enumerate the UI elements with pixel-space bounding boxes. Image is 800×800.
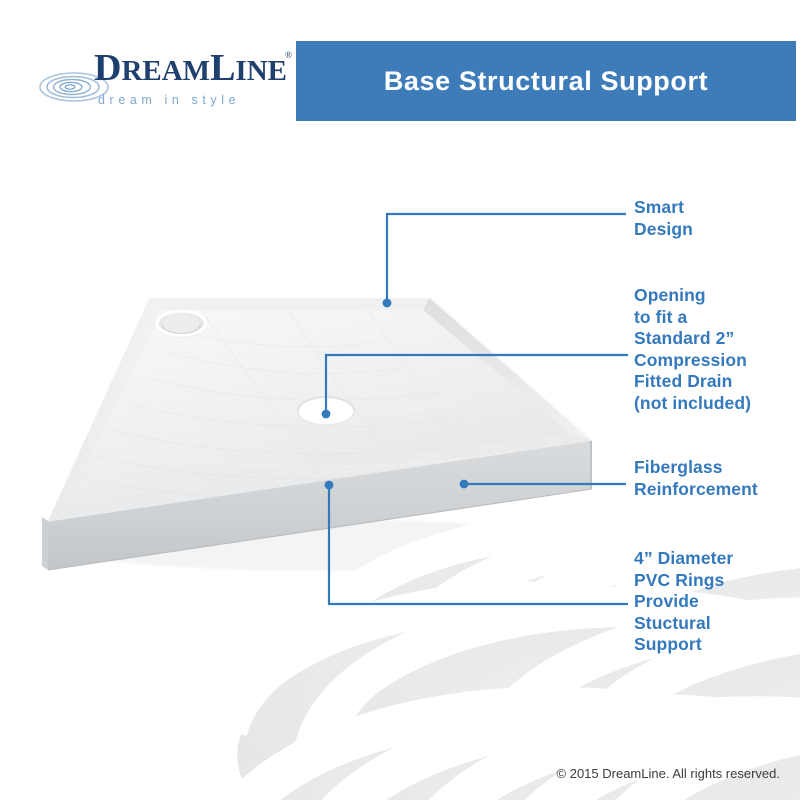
leader-dot-smart-design <box>383 299 392 308</box>
page-root: DREAMLINE ® dream in style Base Structur… <box>0 0 800 800</box>
registered-trademark-mark: ® <box>285 50 292 60</box>
pvc-ring <box>500 718 800 800</box>
logo-letters-ine: INE <box>235 55 287 87</box>
pvc-ring <box>595 714 800 800</box>
logo-wordmark: DREAMLINE <box>94 46 287 90</box>
leader-line-drain-opening <box>326 355 628 414</box>
logo-letter-l: L <box>210 47 235 89</box>
callout-smart-design: Smart Design <box>634 197 693 240</box>
logo-letters-ream: REAM <box>121 55 210 87</box>
base-slab <box>42 297 592 571</box>
dreamline-logo: DREAMLINE ® dream in style <box>38 44 288 124</box>
leader-dot-drain-opening <box>322 410 331 419</box>
callout-pvc-rings: 4” Diameter PVC Rings Provide Stuctural … <box>634 548 733 656</box>
leader-line-pvc-rings <box>329 485 628 604</box>
pvc-ring <box>214 704 800 800</box>
leader-dot-fiberglass <box>460 480 469 489</box>
drain-opening-hole <box>298 397 354 425</box>
callout-drain-opening: Opening to fit a Standard 2” Compression… <box>634 285 751 414</box>
pvc-ring <box>408 714 800 800</box>
leader-lines <box>322 214 628 604</box>
leader-line-smart-design <box>387 214 626 303</box>
callout-fiberglass-reinforcement: Fiberglass Reinforcement <box>634 457 758 500</box>
title-banner: Base Structural Support <box>296 41 796 121</box>
pvc-ring <box>397 534 800 800</box>
copyright-notice: © 2015 DreamLine. All rights reserved. <box>557 766 780 781</box>
logo-tagline: dream in style <box>98 93 240 107</box>
pvc-ring <box>305 711 800 800</box>
page-title: Base Structural Support <box>384 66 708 97</box>
pvc-ring <box>157 311 205 337</box>
leader-dot-pvc-rings <box>325 481 334 490</box>
logo-letter-d: D <box>94 47 121 89</box>
